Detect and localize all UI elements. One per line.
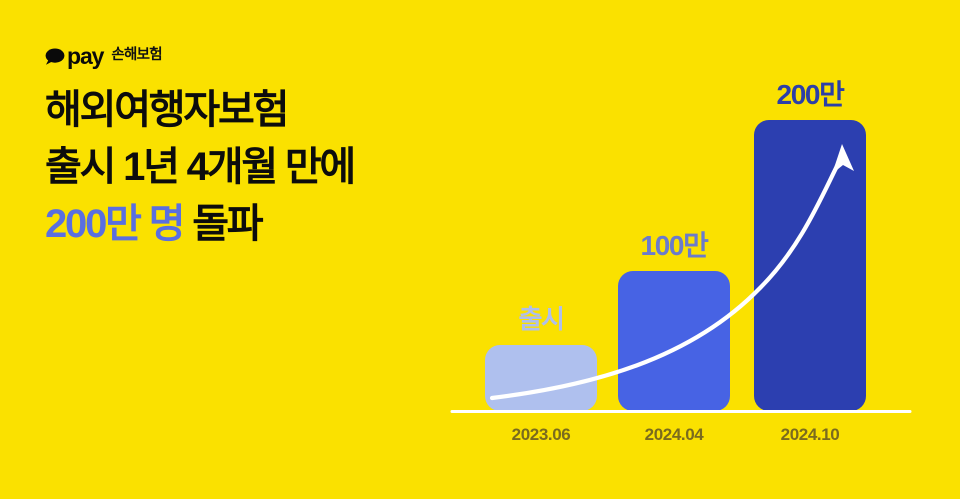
brand-subtitle: 손해보험	[111, 48, 162, 64]
bar-value-label-3: 200만	[777, 79, 846, 110]
bar-2024-04	[618, 271, 730, 411]
bar-2023-06	[485, 345, 597, 411]
bar-value-label-2: 100만	[641, 230, 710, 261]
chart-svg: 출시 100만 200만 2023.06 2024.04 2024.10	[440, 60, 940, 460]
brand-logo: pay 손해보험	[45, 42, 162, 70]
growth-bar-chart: 출시 100만 200만 2023.06 2024.04 2024.10	[440, 60, 940, 460]
x-tick-label-2: 2024.04	[645, 425, 705, 444]
x-tick-label-1: 2023.06	[512, 425, 571, 444]
bar-value-label-1: 출시	[518, 304, 563, 334]
brand-name: pay	[67, 45, 103, 68]
x-tick-label-3: 2024.10	[781, 425, 840, 444]
infographic-canvas: pay 손해보험 해외여행자보험 출시 1년 4개월 만에 200만 명 돌파 …	[0, 0, 960, 499]
headline-line-3-rest: 돌파	[192, 202, 261, 246]
speech-bubble-icon	[45, 48, 65, 65]
headline-highlight: 200만 명	[45, 202, 183, 246]
